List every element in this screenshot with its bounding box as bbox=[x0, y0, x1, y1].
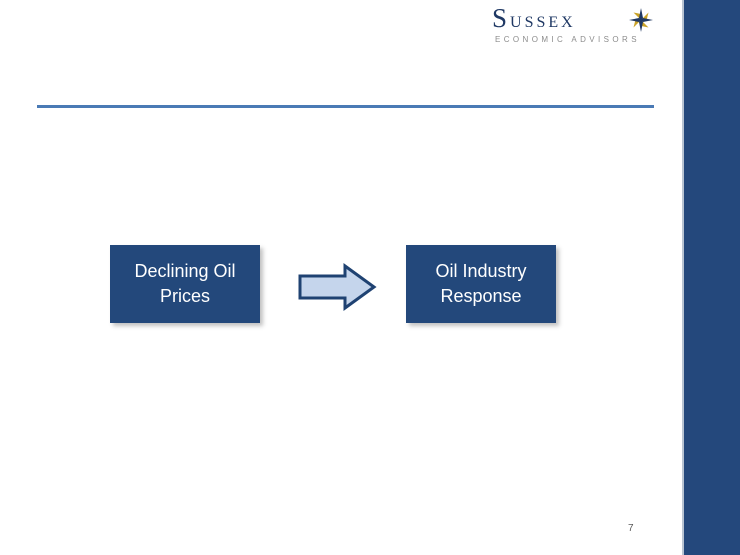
sidebar-accent-bar bbox=[684, 0, 740, 555]
slide: Sussex ECONOMIC ADVISORS bbox=[0, 0, 740, 555]
flow-box-declining-oil-prices: Declining Oil Prices bbox=[110, 245, 260, 323]
logo-wordmark-rest: ussex bbox=[510, 7, 576, 32]
sussex-logo: Sussex ECONOMIC ADVISORS bbox=[492, 6, 660, 48]
header-divider-line bbox=[37, 105, 654, 108]
flow-box-label: Declining Oil Prices bbox=[110, 259, 260, 309]
compass-star-icon bbox=[628, 7, 654, 33]
logo-wordmark: Sussex bbox=[492, 6, 576, 32]
logo-wordmark-initial: S bbox=[492, 3, 510, 33]
logo-tagline: ECONOMIC ADVISORS bbox=[495, 35, 640, 44]
flow-box-label: Oil Industry Response bbox=[406, 259, 556, 309]
flow-box-oil-industry-response: Oil Industry Response bbox=[406, 245, 556, 323]
right-arrow-icon bbox=[297, 263, 377, 311]
flow-arrow bbox=[297, 263, 377, 311]
page-number: 7 bbox=[628, 523, 634, 534]
